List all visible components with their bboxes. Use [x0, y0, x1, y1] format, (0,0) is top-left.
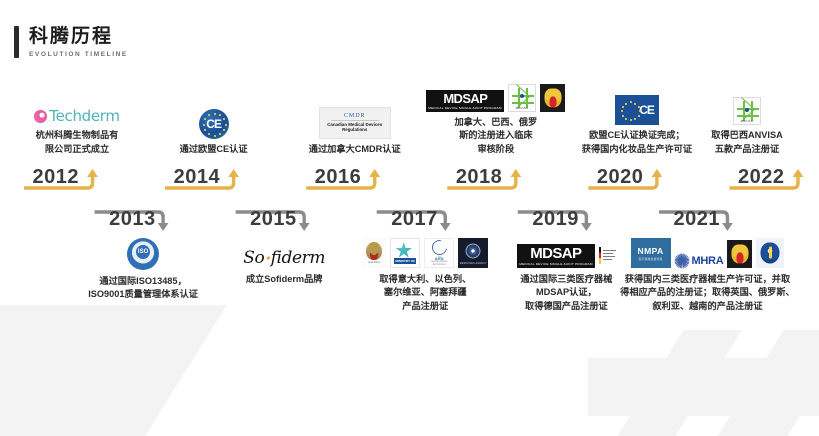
event-caption-2019: 通过国际三类医疗器械 MDSAP认证， 取得德国产品注册证 [520, 273, 612, 313]
timeline-arrow-2022 [793, 169, 804, 177]
page-subtitle: EVOLUTION TIMELINE [29, 51, 128, 58]
timeline-year-2015: 2015 [250, 208, 297, 231]
chevron-shape-left [0, 305, 227, 436]
event-caption-2015: 成立Sofiderm品牌 [246, 273, 323, 286]
eu-ce-flag-logo: CE [615, 95, 659, 125]
timeline-event-2021: NMPA医疗器械监督管理MHRA获得国内三类医疗器械生产许可证，并取 得相应产品… [600, 238, 815, 313]
event-caption-2022: 取得巴西ANVISA 五款产品注册证 [711, 129, 782, 156]
anvisa-logo: ANVISA [733, 97, 761, 125]
event-caption-2021: 获得国内三类医疗器械生产许可证，并取 得相应产品的注册证；取得英国、俄罗斯、 叙… [620, 273, 795, 313]
israel-moh-logo: MINISTRY OF HEALTH [390, 238, 420, 268]
eu-ce-circle-logo: CE [199, 109, 229, 139]
event-logos: CMDRCanadian Medical DevicesRegulations [319, 107, 391, 139]
timeline-year-2019: 2019 [532, 208, 579, 231]
timeline-arrow-2020 [652, 169, 663, 177]
chevron-shape-left-inner [0, 305, 127, 436]
event-logos: NMPA医疗器械监督管理MHRA [631, 238, 785, 268]
russia-emblem-logo [727, 240, 752, 268]
page-header: 科腾历程 EVOLUTION TIMELINE [14, 26, 128, 58]
iso-logo: ISO [127, 238, 159, 270]
event-logos: CE [615, 95, 659, 125]
event-caption-2016: 通过加拿大CMDR认证 [309, 143, 401, 156]
timeline-year-2014: 2014 [174, 166, 221, 189]
timeline-arrow-2021 [722, 223, 733, 231]
timeline-year-2017: 2017 [391, 208, 438, 231]
diagonal-shape-1 [596, 330, 741, 436]
nmpa-logo: NMPA医疗器械监督管理 [631, 238, 671, 268]
timeline-event-2014: CE通过欧盟CE认证 [149, 86, 279, 156]
event-logos: ISO [127, 238, 159, 270]
event-logos: So✦fiderm [243, 238, 325, 268]
diagonal-shape-2 [696, 330, 819, 436]
event-caption-2014: 通过欧盟CE认证 [180, 143, 248, 156]
timeline-year-2018: 2018 [456, 166, 503, 189]
timeline-event-2022: ANVISA取得巴西ANVISA 五款产品注册证 [677, 86, 817, 156]
timeline-event-2016: CMDRCanadian Medical DevicesRegulations通… [280, 86, 430, 156]
event-logos: CE [199, 109, 229, 139]
anvisa-logo: ANVISA [508, 84, 536, 112]
event-caption-2012: 杭州科腾生物制品有 限公司正式成立 [36, 129, 119, 156]
mdsap-logo: MDSAPMEDICAL DEVICE SINGLE AUDIT PROGRAM [426, 90, 504, 112]
timeline-year-2022: 2022 [738, 166, 785, 189]
event-caption-2020: 欧盟CE认证换证完成； 获得国内化妆品生产许可证 [582, 129, 692, 156]
timeline-year-2016: 2016 [315, 166, 362, 189]
timeline-year-2021: 2021 [673, 208, 720, 231]
event-logos: RepubblicaMINISTRY OF HEALTHaifaAgenzia … [362, 238, 488, 268]
header-accent-bar [14, 26, 19, 58]
event-caption-2018: 加拿大、巴西、俄罗 斯的注册进入临床 审核阶段 [454, 116, 537, 156]
block-shape-right-inner [700, 358, 819, 416]
timeline-event-2017: RepubblicaMINISTRY OF HEALTHaifaAgenzia … [350, 238, 500, 313]
event-logos: Techderm [34, 95, 119, 125]
timeline-event-2015: So✦fiderm成立Sofiderm品牌 [219, 238, 349, 286]
sofiderm-logo: So✦fiderm [243, 248, 325, 268]
event-caption-2013: 通过国际ISO13485， ISO9001质量管理体系认证 [88, 275, 198, 302]
block-shape-right [588, 358, 788, 416]
techderm-logo: Techderm [34, 107, 119, 125]
timeline-arrow-2014 [228, 169, 239, 177]
timeline-year-2020: 2020 [597, 166, 644, 189]
timeline-event-2012: Techderm杭州科腾生物制品有 限公司正式成立 [2, 86, 152, 156]
timeline-arrow-2017 [440, 223, 451, 231]
page-title: 科腾历程 [29, 26, 128, 48]
timeline-arrow-2012 [87, 169, 98, 177]
aifa-logo: aifaAgenzia Italianadel Farmaco [424, 238, 454, 268]
timeline-event-2013: ISO通过国际ISO13485， ISO9001质量管理体系认证 [58, 238, 228, 302]
vietnam-health-logo [756, 238, 784, 268]
event-logos: ANVISA [733, 95, 761, 125]
cmdr-logo: CMDRCanadian Medical DevicesRegulations [319, 107, 391, 139]
mdsap-logo: MDSAPMEDICAL DEVICE SINGLE AUDIT PROGRAM [517, 244, 595, 268]
timeline-arrow-2015 [299, 223, 310, 231]
timeline-year-2013: 2013 [109, 208, 156, 231]
timeline-arrow-2019 [581, 223, 592, 231]
event-caption-2017: 取得意大利、以色列、 塞尔维亚、阿塞拜疆 产品注册证 [379, 273, 471, 313]
mhra-logo: MHRA [675, 253, 724, 268]
italy-emblem-logo: Repubblica [362, 238, 386, 268]
timeline-arrow-2018 [510, 169, 521, 177]
timeline-arrow-2016 [369, 169, 380, 177]
timeline-arrow-2013 [158, 223, 169, 231]
timeline-year-2012: 2012 [33, 166, 80, 189]
